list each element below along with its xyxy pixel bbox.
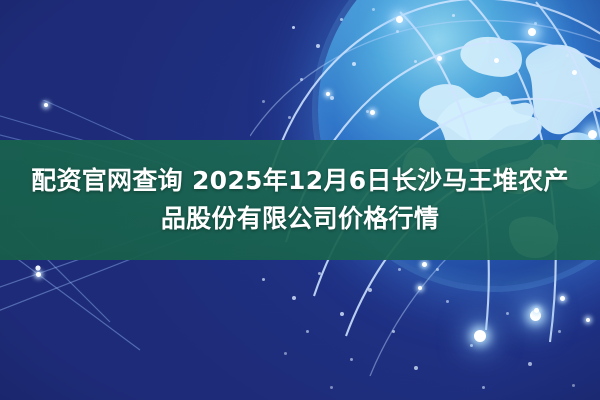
- headline-block: 配资官网查询 2025年12月6日长沙马王堆农产 品股份有限公司价格行情: [0, 140, 600, 260]
- headline-line-2: 品股份有限公司价格行情: [161, 202, 439, 236]
- promo-banner: 配资官网查询 2025年12月6日长沙马王堆农产 品股份有限公司价格行情: [0, 0, 600, 400]
- headline-line-1: 配资官网查询 2025年12月6日长沙马王堆农产: [31, 164, 569, 198]
